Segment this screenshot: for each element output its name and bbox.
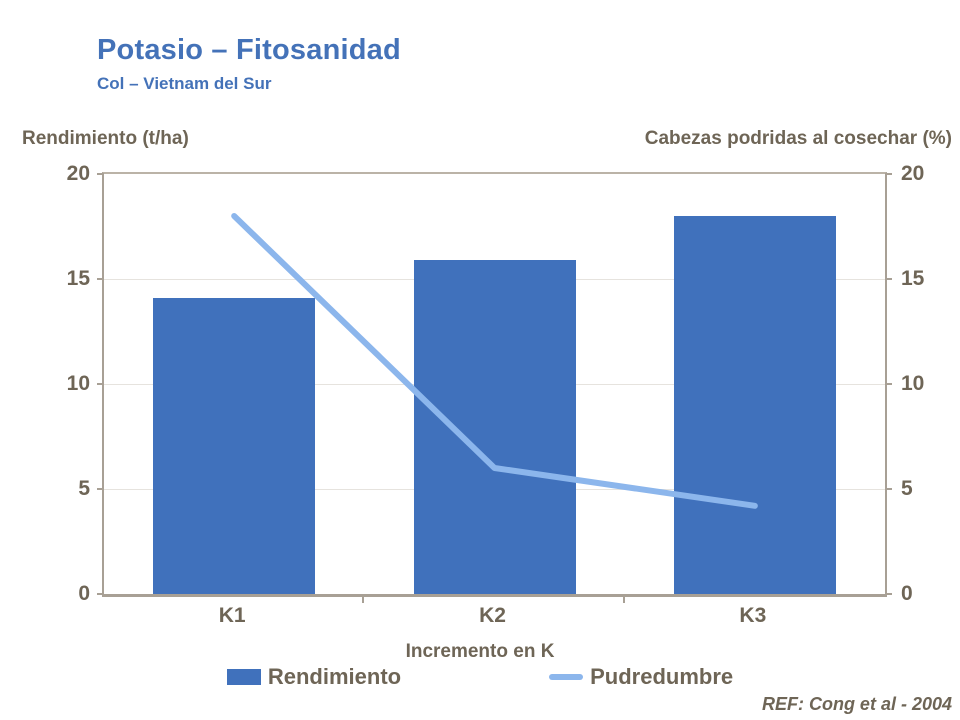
right-tick-mark <box>885 593 892 595</box>
right-tick-mark <box>885 278 892 280</box>
right-tick-label: 10 <box>901 373 924 394</box>
right-tick-label: 15 <box>901 268 924 289</box>
legend-label: Rendimiento <box>268 664 401 690</box>
left-tick-mark <box>97 383 104 385</box>
bar-k2 <box>414 260 576 594</box>
left-tick-label: 5 <box>78 478 90 499</box>
right-tick-label: 0 <box>901 583 913 604</box>
left-tick-label: 0 <box>78 583 90 604</box>
plot-area: 05101520 05101520 <box>102 172 887 597</box>
legend-bar-swatch-icon <box>227 669 261 685</box>
category-label-k3: K3 <box>739 604 766 628</box>
right-tick-label: 5 <box>901 478 913 499</box>
legend-item-pudredumbre[interactable]: Pudredumbre <box>549 664 733 690</box>
x-tick-mark <box>623 595 625 603</box>
chart-title: Potasio – Fitosanidad <box>97 34 401 67</box>
left-tick-mark <box>97 488 104 490</box>
reference-note: REF: Cong et al - 2004 <box>762 694 952 715</box>
left-axis-title: Rendimiento (t/ha) <box>22 128 189 150</box>
right-tick-mark <box>885 173 892 175</box>
left-tick-mark <box>97 278 104 280</box>
chart-legend: RendimientoPudredumbre <box>0 664 960 690</box>
legend-item-rendimiento[interactable]: Rendimiento <box>227 664 401 690</box>
x-tick-mark <box>362 595 364 603</box>
chart-subtitle: Col – Vietnam del Sur <box>97 74 271 94</box>
right-tick-label: 20 <box>901 163 924 184</box>
left-tick-mark <box>97 593 104 595</box>
legend-label: Pudredumbre <box>590 664 733 690</box>
left-tick-label: 10 <box>67 373 90 394</box>
bar-k1 <box>153 298 315 594</box>
left-tick-label: 20 <box>67 163 90 184</box>
x-axis-title: Incremento en K <box>0 641 960 663</box>
right-axis-title: Cabezas podridas al cosechar (%) <box>645 128 952 150</box>
bar-k3 <box>674 216 836 594</box>
right-tick-mark <box>885 383 892 385</box>
right-tick-mark <box>885 488 892 490</box>
legend-line-swatch-icon <box>549 674 583 680</box>
category-label-k2: K2 <box>479 604 506 628</box>
category-label-k1: K1 <box>219 604 246 628</box>
left-tick-mark <box>97 173 104 175</box>
left-tick-label: 15 <box>67 268 90 289</box>
